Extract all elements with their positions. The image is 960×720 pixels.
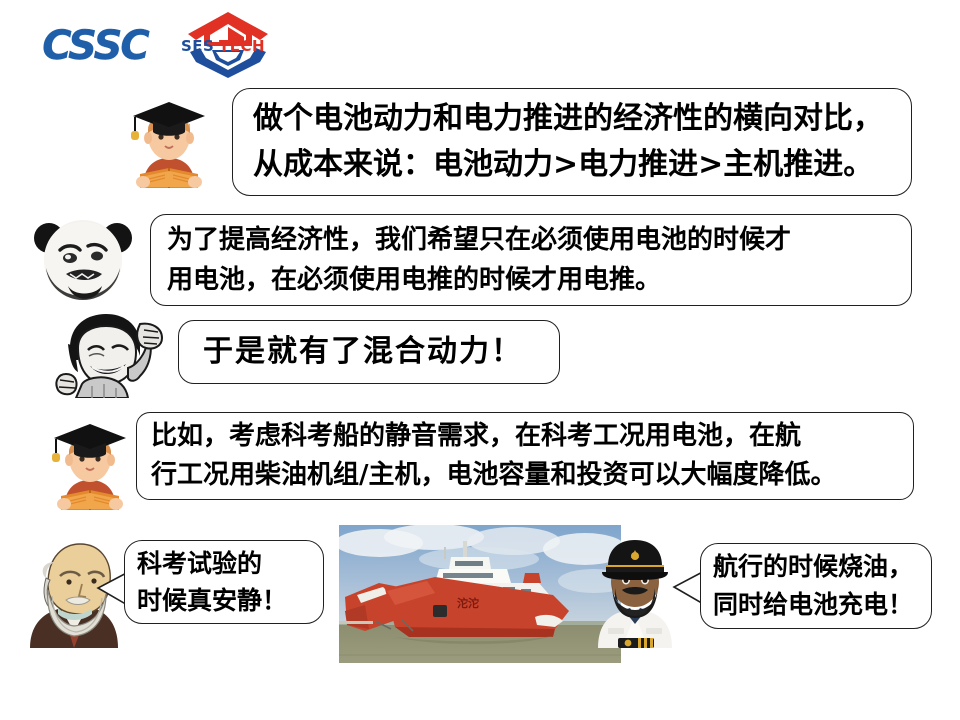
bubble-5-line-1: 科考试验的 [137,545,323,582]
speech-bubble-4: 比如，考虑科考船的静音需求，在科考工况用电池，在航 行工况用柴油机组/主机，电池… [136,412,914,500]
bubble-3-line-1: 于是就有了混合动力！ [203,332,559,372]
graduate-scholar-avatar [123,88,215,188]
ship-captain-avatar [588,536,682,648]
flexing-meme-avatar [48,312,174,398]
speech-bubble-1: 做个电池动力和电力推进的经济性的横向对比， 从成本来说：电池动力>电力推进>主机… [232,88,912,196]
svg-text:SES: SES [181,37,214,55]
bubble-2-line-2: 用电池，在必须使用电推的时候才用电推。 [167,260,911,300]
bubble-5-line-2: 时候真安静！ [137,582,323,619]
speech-bubble-2: 为了提高经济性，我们希望只在必须使用电池的时候才 用电池，在必须使用电推的时候才… [150,214,912,306]
bubble-4-line-2: 行工况用柴油机组/主机，电池容量和投资可以大幅度降低。 [151,456,913,495]
graduate-scholar-avatar [44,410,136,510]
bubble-1-line-1: 做个电池动力和电力推进的经济性的横向对比， [253,96,911,142]
sestech-logo-mark: SES TECH [172,8,284,78]
speech-bubble-5: 科考试验的 时候真安静！ [124,540,324,624]
research-vessel-photo: 沱沱 [339,525,621,663]
svg-text:沱沱: 沱沱 [457,596,479,610]
bubble-1-line-2: 从成本来说：电池动力>电力推进>主机推进。 [253,142,911,188]
sestech-logo: SES TECH [172,8,284,78]
speech-bubble-6: 航行的时候烧油， 同时给电池充电！ [700,543,932,629]
thinking-panda-avatar [22,212,140,304]
speech-bubble-3: 于是就有了混合动力！ [178,320,560,384]
bubble-2-line-1: 为了提高经济性，我们希望只在必须使用电池的时候才 [167,220,911,260]
bubble-6-line-2: 同时给电池充电！ [713,586,931,624]
cssc-logo: CSSC [32,23,158,69]
bubble-4-line-1: 比如，考虑科考船的静音需求，在科考工况用电池，在航 [151,417,913,456]
slide-canvas: CSSC SES TECH [0,0,960,720]
bubble-6-line-1: 航行的时候烧油， [713,548,931,586]
svg-text:TECH: TECH [219,37,265,55]
